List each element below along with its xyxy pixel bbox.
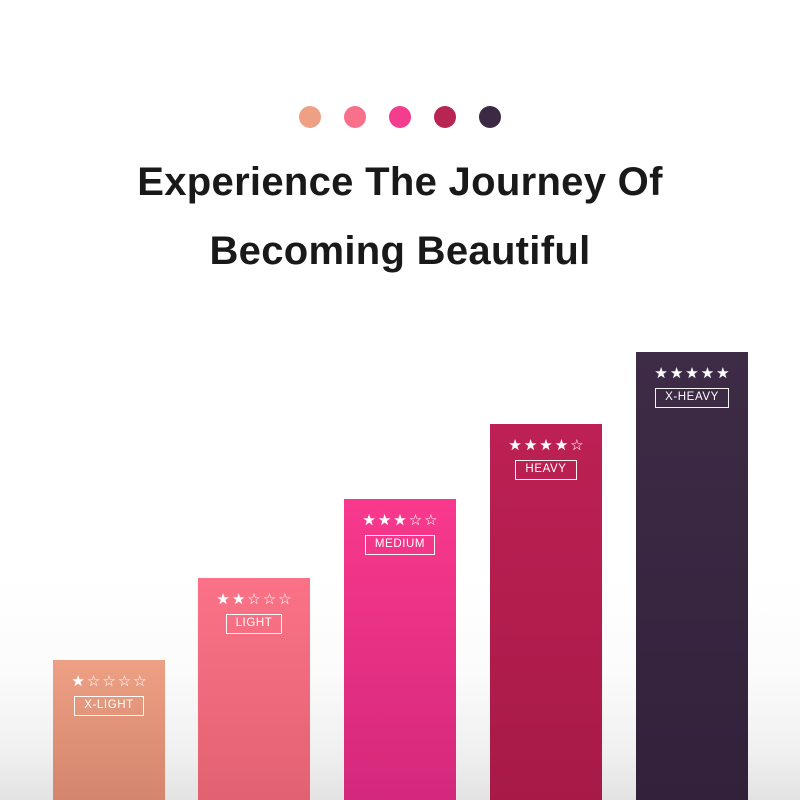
bar-15lb-rating-block: ★★☆☆☆LIGHT bbox=[198, 592, 310, 634]
bar-40lb-tier-badge: X-HEAVY bbox=[655, 388, 729, 408]
star-empty-icon: ☆ bbox=[102, 674, 115, 689]
bar-15lb-tier-badge: LIGHT bbox=[226, 614, 283, 634]
star-filled-icon: ★ bbox=[716, 366, 729, 381]
bar-40lb[interactable]: 40LB★★★★★X-HEAVY bbox=[636, 352, 748, 800]
bar-20lb-tier-badge: MEDIUM bbox=[365, 535, 435, 555]
bar-30lb-tier-badge: HEAVY bbox=[515, 460, 576, 480]
star-empty-icon: ☆ bbox=[263, 592, 276, 607]
star-filled-icon: ★ bbox=[701, 366, 714, 381]
star-filled-icon: ★ bbox=[216, 592, 229, 607]
star-filled-icon: ★ bbox=[508, 438, 521, 453]
bar-10lb-star-rating: ★☆☆☆☆ bbox=[71, 674, 146, 689]
star-filled-icon: ★ bbox=[685, 366, 698, 381]
bar-20lb[interactable]: 20LB★★★☆☆MEDIUM bbox=[344, 499, 456, 800]
star-filled-icon: ★ bbox=[232, 592, 245, 607]
bar-10lb-fill: ★☆☆☆☆X-LIGHT bbox=[53, 660, 165, 800]
star-empty-icon: ☆ bbox=[278, 592, 291, 607]
bar-30lb-rating-block: ★★★★☆HEAVY bbox=[490, 438, 602, 480]
star-filled-icon: ★ bbox=[393, 513, 406, 528]
star-empty-icon: ☆ bbox=[87, 674, 100, 689]
bar-20lb-star-rating: ★★★☆☆ bbox=[362, 513, 437, 528]
star-empty-icon: ☆ bbox=[570, 438, 583, 453]
star-filled-icon: ★ bbox=[555, 438, 568, 453]
bar-15lb-star-rating: ★★☆☆☆ bbox=[216, 592, 291, 607]
bar-40lb-fill: ★★★★★X-HEAVY bbox=[636, 352, 748, 800]
star-filled-icon: ★ bbox=[378, 513, 391, 528]
star-filled-icon: ★ bbox=[524, 438, 537, 453]
bar-40lb-star-rating: ★★★★★ bbox=[654, 366, 729, 381]
bar-20lb-fill: ★★★☆☆MEDIUM bbox=[344, 499, 456, 800]
resistance-band-bar-chart: 10LB★☆☆☆☆X-LIGHT15LB★★☆☆☆LIGHT20LB★★★☆☆M… bbox=[0, 0, 800, 800]
bar-10lb[interactable]: 10LB★☆☆☆☆X-LIGHT bbox=[53, 660, 165, 800]
star-empty-icon: ☆ bbox=[133, 674, 146, 689]
star-empty-icon: ☆ bbox=[118, 674, 131, 689]
star-empty-icon: ☆ bbox=[247, 592, 260, 607]
bar-15lb[interactable]: 15LB★★☆☆☆LIGHT bbox=[198, 578, 310, 800]
bar-15lb-fill: ★★☆☆☆LIGHT bbox=[198, 578, 310, 800]
bar-40lb-rating-block: ★★★★★X-HEAVY bbox=[636, 366, 748, 408]
star-filled-icon: ★ bbox=[654, 366, 667, 381]
star-filled-icon: ★ bbox=[362, 513, 375, 528]
bar-30lb-star-rating: ★★★★☆ bbox=[508, 438, 583, 453]
bar-30lb-fill: ★★★★☆HEAVY bbox=[490, 424, 602, 800]
star-empty-icon: ☆ bbox=[424, 513, 437, 528]
star-filled-icon: ★ bbox=[539, 438, 552, 453]
bar-30lb[interactable]: 30LB★★★★☆HEAVY bbox=[490, 424, 602, 800]
bar-10lb-tier-badge: X-LIGHT bbox=[74, 696, 144, 716]
star-filled-icon: ★ bbox=[71, 674, 84, 689]
star-empty-icon: ☆ bbox=[409, 513, 422, 528]
bar-10lb-rating-block: ★☆☆☆☆X-LIGHT bbox=[53, 674, 165, 716]
bar-20lb-rating-block: ★★★☆☆MEDIUM bbox=[344, 513, 456, 555]
star-filled-icon: ★ bbox=[670, 366, 683, 381]
